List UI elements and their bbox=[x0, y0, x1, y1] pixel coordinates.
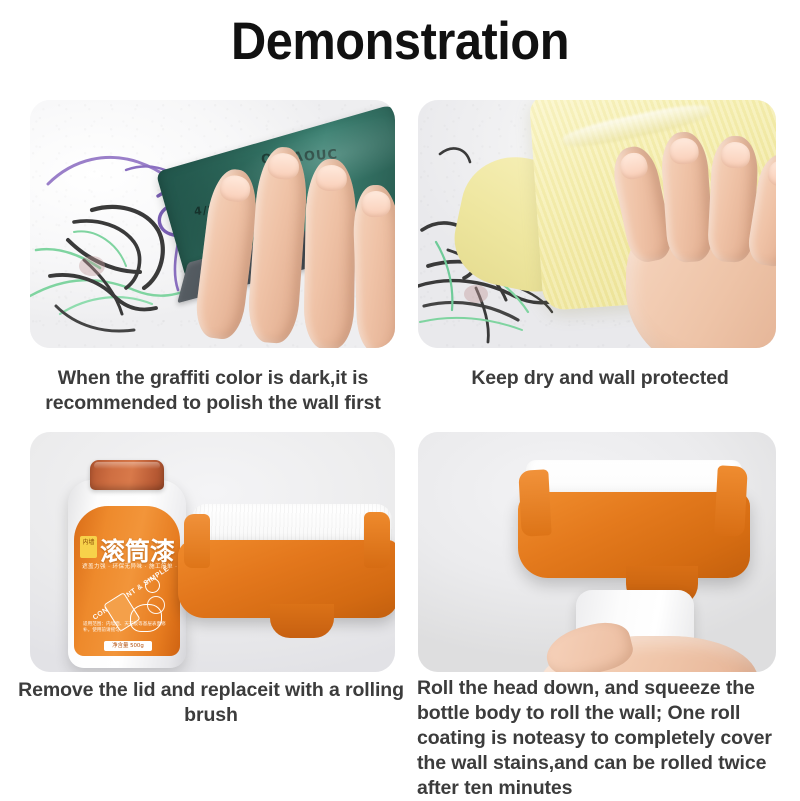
bottle-cap bbox=[90, 460, 164, 490]
page-title: Demonstration bbox=[32, 8, 768, 76]
product-bottle-scene: 内墙 滚筒漆 遮盖力强 · 环保无异味 · 施工简单 · 干燥快速 CONVEN… bbox=[30, 432, 395, 672]
fingernail bbox=[361, 191, 390, 218]
finger bbox=[246, 145, 310, 344]
fingernail bbox=[720, 141, 750, 168]
hand bbox=[538, 620, 758, 672]
step-image-3: 内墙 滚筒漆 遮盖力强 · 环保无异味 · 施工简单 · 干燥快速 CONVEN… bbox=[30, 432, 395, 672]
label-net-weight: 净含量 500g bbox=[104, 641, 152, 651]
thumb bbox=[541, 616, 636, 672]
fingernail bbox=[219, 174, 252, 203]
step-caption-3: Remove the lid and replaceit with a roll… bbox=[18, 678, 404, 728]
hand bbox=[586, 138, 776, 348]
fingernail bbox=[267, 152, 300, 180]
fingernail bbox=[766, 158, 776, 188]
step-image-1: QBTAOUC 4/2 SHI S bbox=[30, 100, 395, 348]
step-caption-1: When the graffiti color is dark,it is re… bbox=[22, 366, 404, 416]
roller-arm-right bbox=[714, 465, 748, 536]
roller-arm-left bbox=[518, 469, 551, 536]
label-circle-mark bbox=[145, 578, 160, 593]
label-circle-mark bbox=[147, 596, 165, 614]
hand bbox=[195, 129, 395, 348]
finger bbox=[303, 159, 356, 348]
fingernail bbox=[669, 137, 699, 165]
roller-brush-head bbox=[518, 460, 750, 610]
label-badge: 内墙 bbox=[80, 536, 97, 558]
graffiti-wall-scene: QBTAOUC 4/2 SHI S bbox=[30, 100, 395, 348]
finger bbox=[660, 131, 715, 264]
fingernail bbox=[618, 150, 650, 181]
step-caption-4: Roll the head down, and squeeze the bott… bbox=[417, 676, 789, 801]
roller-brush-head bbox=[178, 504, 395, 644]
roller-neck bbox=[270, 604, 334, 638]
fingernail bbox=[316, 165, 347, 192]
step-caption-2: Keep dry and wall protected bbox=[414, 366, 786, 391]
step-image-2 bbox=[418, 100, 776, 348]
step-image-4 bbox=[418, 432, 776, 672]
paint-bottle: 内墙 滚筒漆 遮盖力强 · 环保无异味 · 施工简单 · 干燥快速 CONVEN… bbox=[68, 460, 186, 668]
cloth-wipe-scene bbox=[418, 100, 776, 348]
label-fine-print: 适用范围：内墙面、天花板等基层表面修补。使用前请摇匀。 bbox=[83, 622, 169, 634]
product-label: 内墙 滚筒漆 遮盖力强 · 环保无异味 · 施工简单 · 干燥快速 CONVEN… bbox=[74, 506, 180, 656]
finger bbox=[352, 184, 395, 348]
rolling-wall-scene bbox=[418, 432, 776, 672]
